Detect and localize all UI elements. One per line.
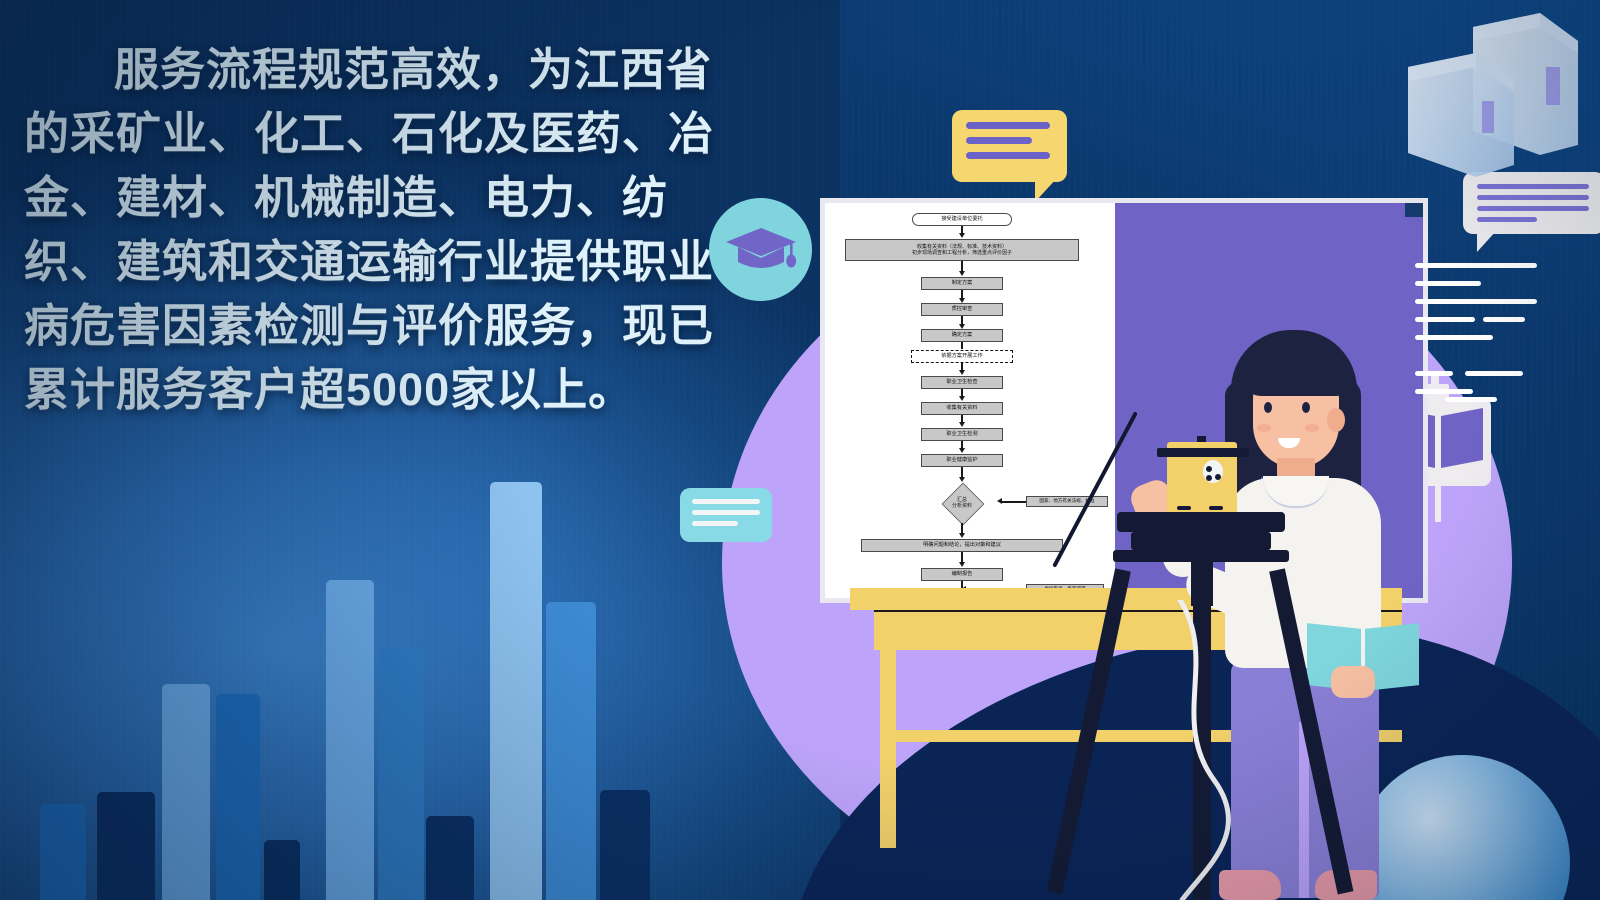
poster-canvas: 服务流程规范高效，为江西省 的采矿业、化工、石化及医药、冶 金、建材、机械制造、… xyxy=(0,0,1600,900)
vignette-overlay xyxy=(0,0,1600,900)
